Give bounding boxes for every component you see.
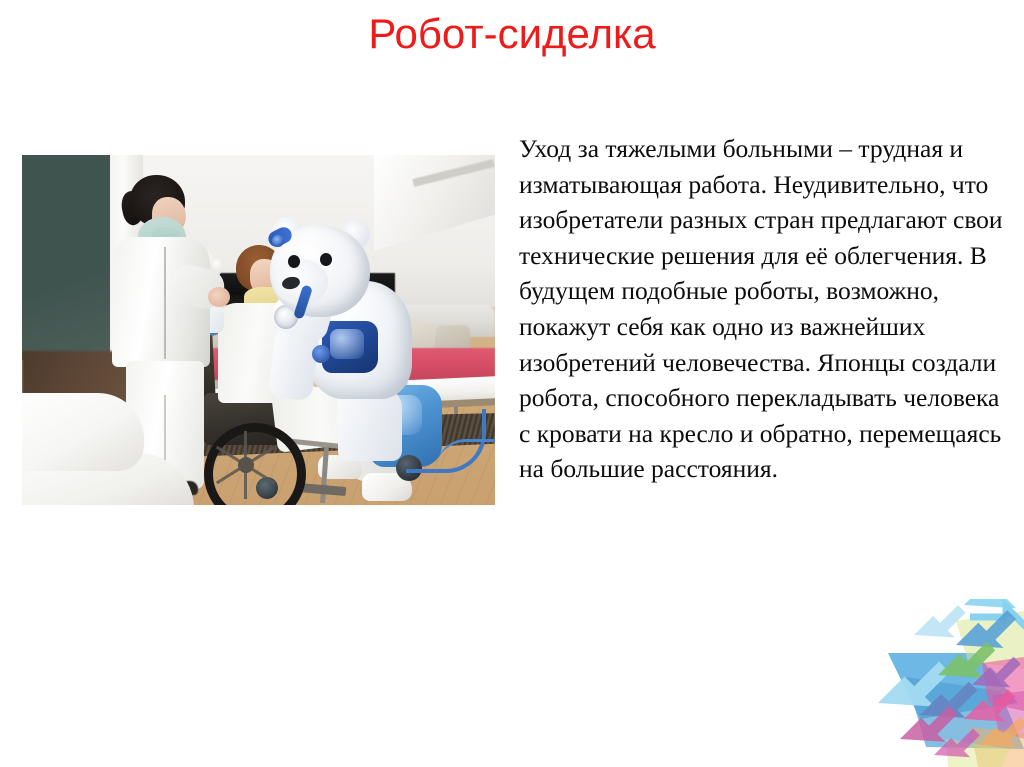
page-title: Робот-сиделка (0, 8, 1024, 60)
illustration-photo (22, 155, 495, 505)
photo-caregiver-hand (208, 287, 230, 307)
photo-wheelchair-hub (238, 457, 254, 473)
body-paragraph-text: Уход за тяжелыми больными – трудная и из… (519, 134, 1003, 483)
photo-robot-sensor (272, 235, 284, 247)
photo-robot-lower-body (338, 389, 402, 461)
photo-robot-eye (320, 253, 332, 266)
photo-caregiver-zipper (164, 247, 166, 359)
body-paragraph: Уход за тяжелыми больными – трудная и из… (519, 131, 1005, 487)
photo-robot-joint (312, 345, 330, 363)
photo-foreground-sofa-arm (22, 393, 144, 471)
colorful-arrows-graphic (860, 599, 1024, 767)
photo-green-wall-panel (22, 155, 110, 360)
photo-robot-chest-highlight (330, 329, 364, 359)
photo-robot-eye (288, 255, 300, 268)
